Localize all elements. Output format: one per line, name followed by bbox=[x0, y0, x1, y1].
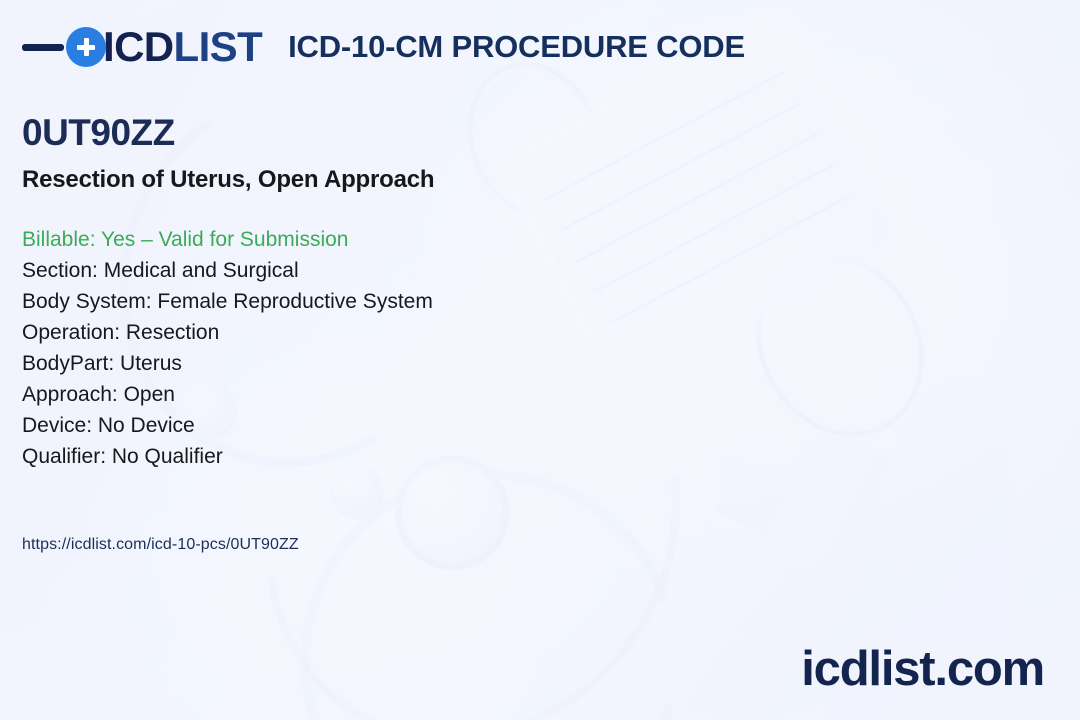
plus-vertical-bar bbox=[84, 38, 89, 56]
icdlist-logo[interactable]: ICDLIST bbox=[22, 26, 262, 68]
detail-line: Approach: Open bbox=[22, 379, 433, 410]
logo-word-list: LIST bbox=[174, 23, 263, 70]
detail-line: BodyPart: Uterus bbox=[22, 348, 433, 379]
detail-line: Section: Medical and Surgical bbox=[22, 255, 433, 286]
detail-line: Device: No Device bbox=[22, 410, 433, 441]
procedure-code: 0UT90ZZ bbox=[22, 114, 175, 151]
logo-word-icd: ICD bbox=[103, 23, 174, 70]
icd-code-card: ICDLIST ICD-10-CM PROCEDURE CODE 0UT90ZZ… bbox=[0, 0, 1080, 720]
source-url: https://icdlist.com/icd-10-pcs/0UT90ZZ bbox=[22, 536, 299, 554]
procedure-description: Resection of Uterus, Open Approach bbox=[22, 166, 434, 194]
detail-line: Body System: Female Reproductive System bbox=[22, 286, 433, 317]
procedure-details-list: Billable: Yes – Valid for SubmissionSect… bbox=[22, 224, 433, 472]
detail-line: Qualifier: No Qualifier bbox=[22, 441, 433, 472]
logo-wordmark: ICDLIST bbox=[103, 26, 262, 68]
card-content: ICDLIST ICD-10-CM PROCEDURE CODE 0UT90ZZ… bbox=[0, 0, 1080, 720]
detail-line: Billable: Yes – Valid for Submission bbox=[22, 224, 433, 255]
detail-line: Operation: Resection bbox=[22, 317, 433, 348]
header: ICDLIST ICD-10-CM PROCEDURE CODE bbox=[22, 26, 745, 68]
plus-circle-icon bbox=[66, 27, 106, 67]
page-title: ICD-10-CM PROCEDURE CODE bbox=[288, 29, 745, 65]
dash-icon bbox=[22, 44, 64, 51]
site-watermark: icdlist.com bbox=[801, 645, 1044, 694]
